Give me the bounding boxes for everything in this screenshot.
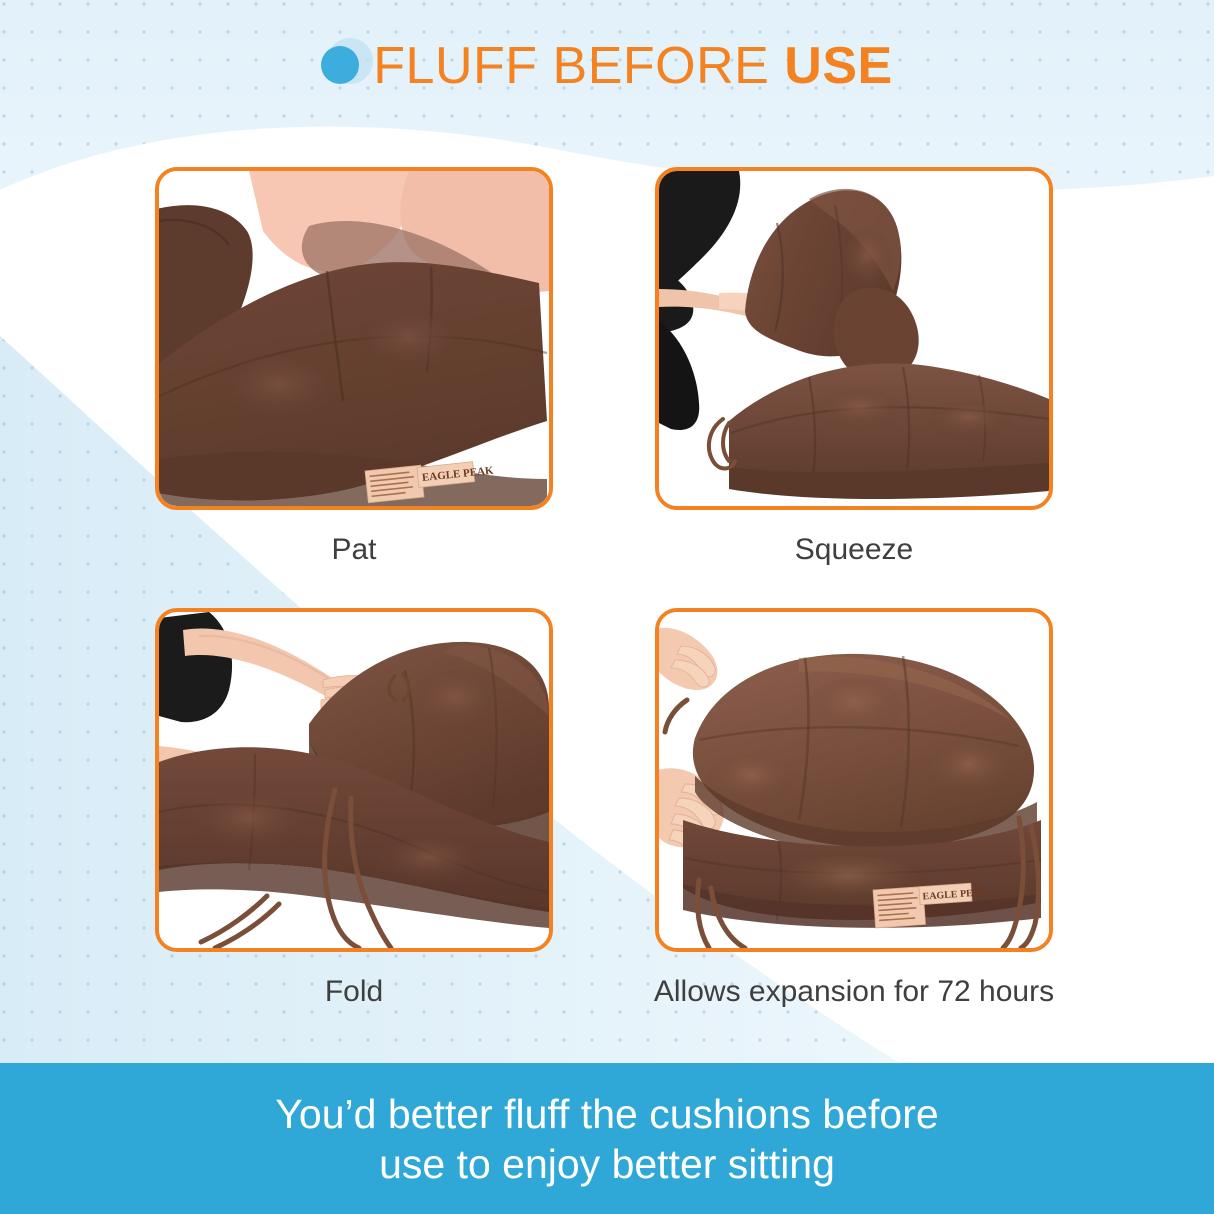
step-caption-pat: Pat bbox=[155, 533, 553, 567]
step-photo-pat: EAGLE PEAK bbox=[159, 171, 549, 506]
page-title-emphasis: USE bbox=[784, 37, 892, 95]
step-panel-expansion[interactable]: EAGLE PEAK bbox=[655, 608, 1053, 952]
step-photo-expansion: EAGLE PEAK bbox=[659, 612, 1049, 948]
step-caption-fold: Fold bbox=[155, 975, 553, 1009]
banner-line-2: use to enjoy better sitting bbox=[379, 1139, 835, 1189]
page-title: FLUFF BEFORE USE bbox=[0, 38, 1214, 94]
banner-line-1: You’d better fluff the cushions before bbox=[275, 1089, 938, 1139]
step-photo-squeeze bbox=[659, 171, 1049, 506]
page-title-text: FLUFF BEFORE USE bbox=[373, 38, 892, 94]
step-photo-fold bbox=[159, 612, 549, 948]
bottom-banner: You’d better fluff the cushions before u… bbox=[0, 1063, 1214, 1214]
step-panel-pat[interactable]: EAGLE PEAK bbox=[155, 167, 553, 510]
blue-circle-badge-icon bbox=[321, 38, 377, 94]
step-panel-squeeze[interactable] bbox=[655, 167, 1053, 510]
step-panel-fold[interactable] bbox=[155, 608, 553, 952]
page-title-normal: FLUFF BEFORE bbox=[373, 37, 784, 95]
step-caption-squeeze: Squeeze bbox=[655, 533, 1053, 567]
step-caption-expansion: Allows expansion for 72 hours bbox=[625, 975, 1083, 1009]
